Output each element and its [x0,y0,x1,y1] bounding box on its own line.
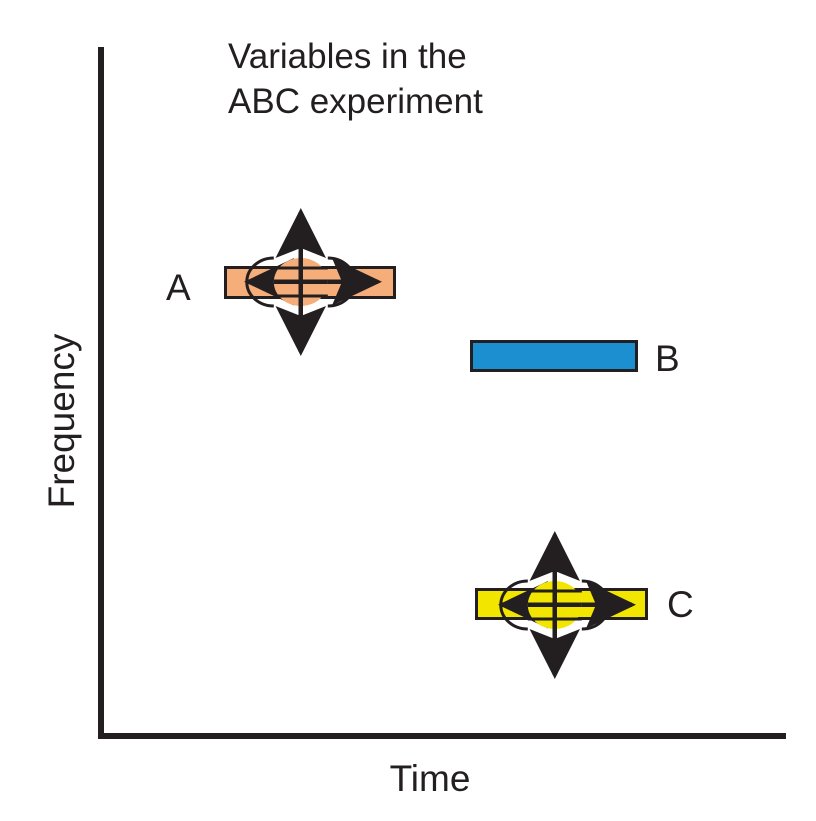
x-axis-label: Time [330,757,530,801]
y-axis-line [98,47,104,739]
chart-title-line-1: Variables in the [228,34,483,79]
chart-title: Variables in the ABC experiment [228,34,483,124]
figure-canvas: Frequency Time Variables in the ABC expe… [0,0,816,821]
bar-b-label: B [655,339,680,379]
bar-a[interactable] [224,266,396,299]
bar-c-label: C [667,585,694,625]
bar-b[interactable] [470,340,638,372]
y-axis-label: Frequency [39,271,85,571]
bar-c[interactable] [475,588,648,620]
chart-title-line-2: ABC experiment [228,79,483,124]
x-axis-line [98,733,786,739]
bar-a-label: A [166,268,191,308]
